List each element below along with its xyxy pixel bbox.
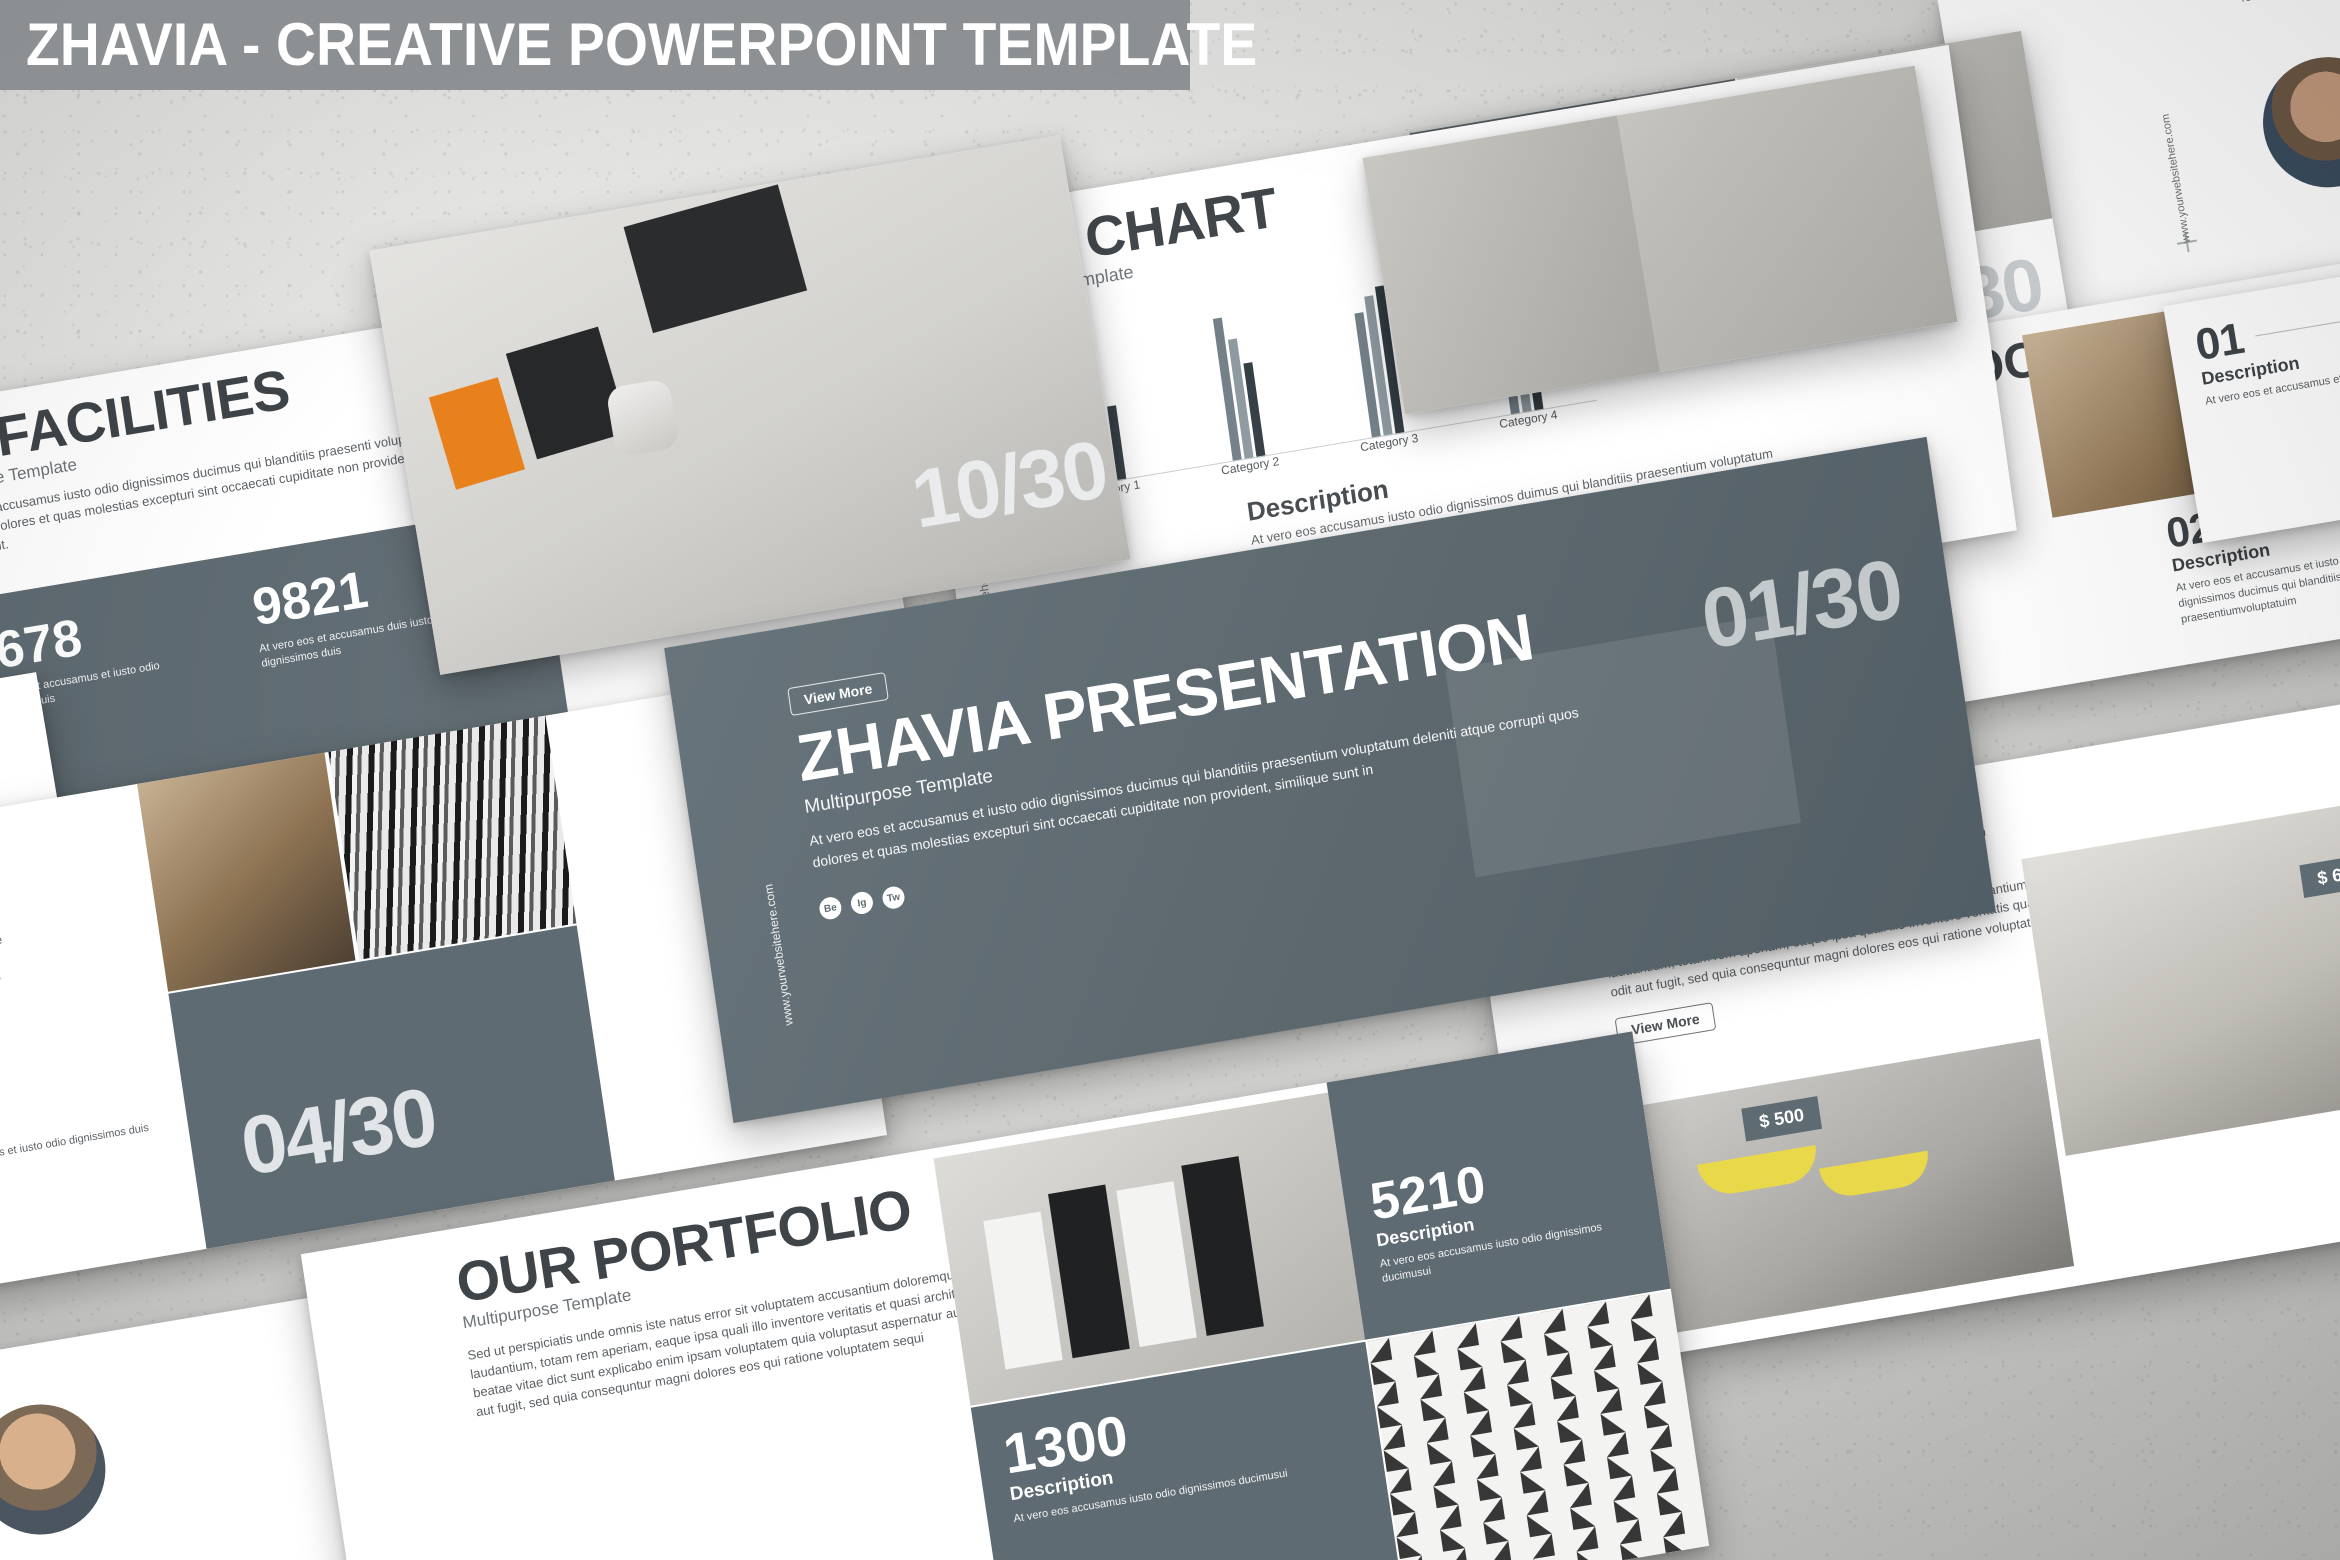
step-number: 01 bbox=[2193, 318, 2247, 367]
title-banner: ZHAVIA - CREATIVE POWERPOINT TEMPLATE bbox=[0, 0, 1190, 90]
instagram-icon[interactable]: Ig bbox=[850, 891, 875, 916]
team-lead-text: Sed ut perspiciatis rem aperiam, eaque i… bbox=[2238, 0, 2340, 8]
plus-icon bbox=[785, 1057, 808, 1080]
title-slide-website[interactable]: www.yourwebsitehere.com bbox=[761, 883, 795, 1027]
team-website[interactable]: www.yourwebsitehere.com bbox=[2160, 113, 2193, 244]
plus-icon bbox=[2175, 231, 2198, 254]
page-number: 01/30 bbox=[1696, 540, 1907, 669]
vision-description-block: ➤ Description At vero eos et accusamus e… bbox=[0, 1047, 169, 1198]
chart-bar-group bbox=[1213, 314, 1266, 462]
photo-object-speaker bbox=[605, 378, 680, 458]
portfolio-photo-pattern bbox=[1367, 1291, 1709, 1560]
twitter-icon[interactable]: Tw bbox=[881, 885, 906, 910]
portfolio-stat-block-1: 5210 Description At vero eos accusamus i… bbox=[1309, 1031, 1671, 1339]
behance-icon[interactable]: Be bbox=[818, 896, 843, 921]
showcase-canvas: John Abraham At vero accusamus iusto dig… bbox=[0, 0, 2340, 1560]
banner-title: ZHAVIA - CREATIVE POWERPOINT TEMPLATE bbox=[26, 15, 1257, 75]
